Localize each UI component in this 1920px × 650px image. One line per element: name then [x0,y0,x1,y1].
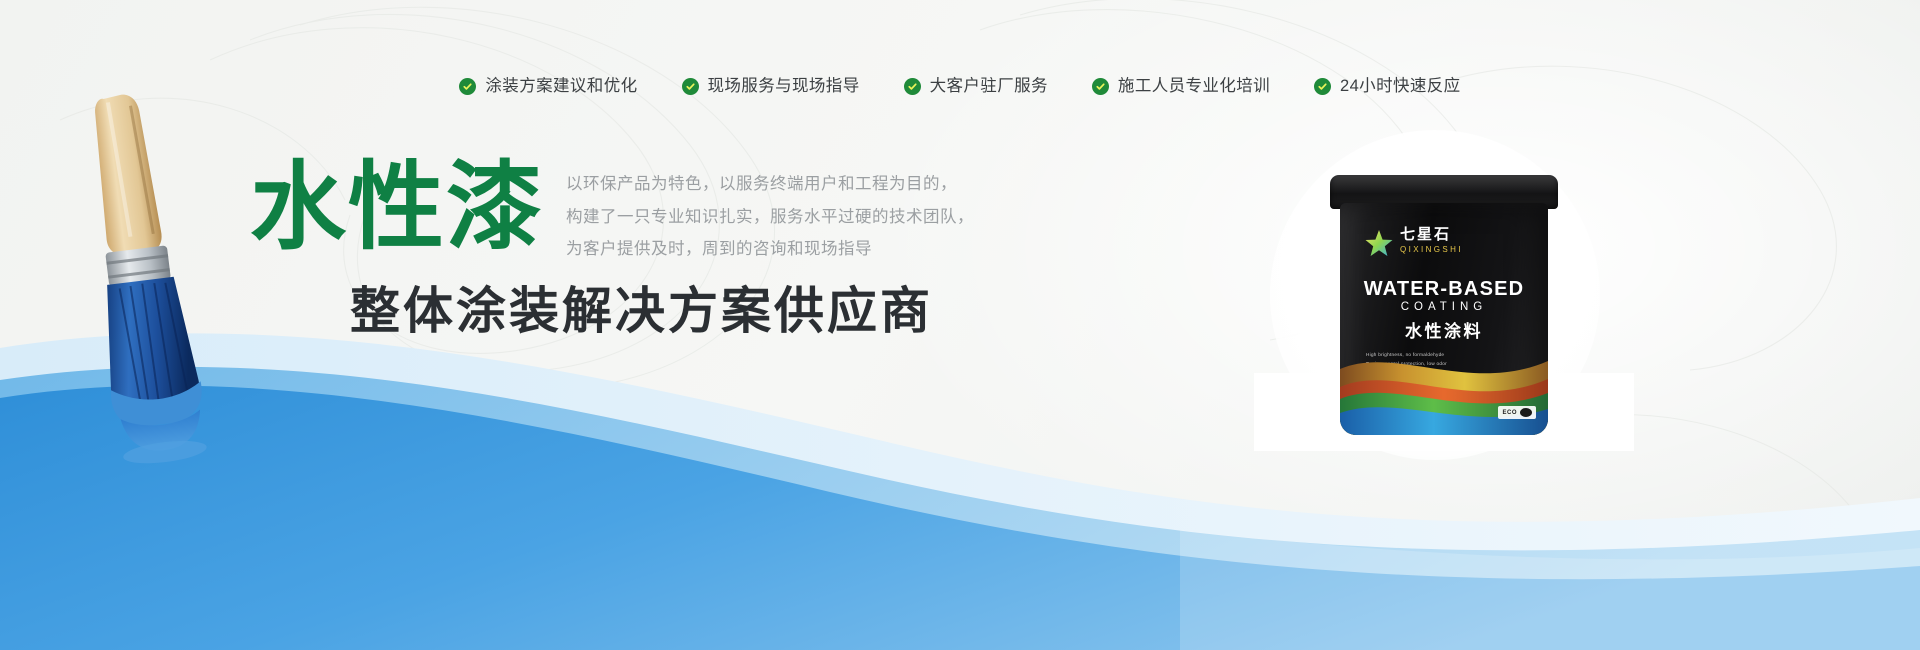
feature-item-2[interactable]: 大客户驻厂服务 [904,78,1048,95]
product-name-cn: 水性涂料 [1340,323,1548,340]
product-name-en: WATER-BASED [1340,279,1548,299]
check-circle-icon [682,78,699,95]
check-circle-icon [1314,78,1331,95]
check-circle-icon [1092,78,1109,95]
description-line-1: 构建了一只专业知识扎实，服务水平过硬的技术团队， [566,205,974,231]
eco-badge: ECO [1498,406,1536,419]
check-circle-icon [459,78,476,95]
feature-item-0[interactable]: 涂装方案建议和优化 [459,78,637,95]
eco-leaf-icon [1520,408,1532,417]
rainbow-wave-graphic [1340,339,1548,435]
feature-item-4[interactable]: 24小时快速反应 [1314,78,1461,95]
check-circle-icon [904,78,921,95]
feature-list: 涂装方案建议和优化 现场服务与现场指导 大客户驻厂服务 施工人员专业化培训 24… [0,78,1920,95]
feature-label: 24小时快速反应 [1340,78,1461,95]
paint-bucket: 七星石 QIXINGSHI WATER-BASED COATING 水性涂料 H… [1322,175,1567,440]
subheadline: 整体涂装解决方案供应商 [350,284,974,339]
product-name-en-sub: COATING [1340,302,1548,314]
feature-item-1[interactable]: 现场服务与现场指导 [682,78,860,95]
description-line-0: 以环保产品为特色，以服务终端用户和工程为目的， [566,172,974,198]
feature-label: 涂装方案建议和优化 [485,78,637,95]
page-title: 水性漆 [250,150,544,256]
feature-item-3[interactable]: 施工人员专业化培训 [1092,78,1270,95]
star-icon [1364,229,1394,259]
feature-label: 现场服务与现场指导 [708,78,860,95]
feature-label: 施工人员专业化培训 [1118,78,1270,95]
bucket-body: 七星石 QIXINGSHI WATER-BASED COATING 水性涂料 H… [1340,203,1548,435]
feature-label: 大客户驻厂服务 [930,78,1048,95]
eco-label: ECO [1502,410,1517,416]
description-paragraph: 以环保产品为特色，以服务终端用户和工程为目的， 构建了一只专业知识扎实，服务水平… [566,150,974,270]
description-line-2: 为客户提供及时，周到的咨询和现场指导 [566,237,974,263]
brand-name-cn: 七星石 [1400,227,1451,242]
product-image[interactable]: 七星石 QIXINGSHI WATER-BASED COATING 水性涂料 H… [1280,130,1610,460]
brand-name-en: QIXINGSHI [1400,246,1463,254]
hero-banner: 涂装方案建议和优化 现场服务与现场指导 大客户驻厂服务 施工人员专业化培训 24… [0,0,1920,650]
headline-block: 水性漆 以环保产品为特色，以服务终端用户和工程为目的， 构建了一只专业知识扎实，… [250,150,974,339]
